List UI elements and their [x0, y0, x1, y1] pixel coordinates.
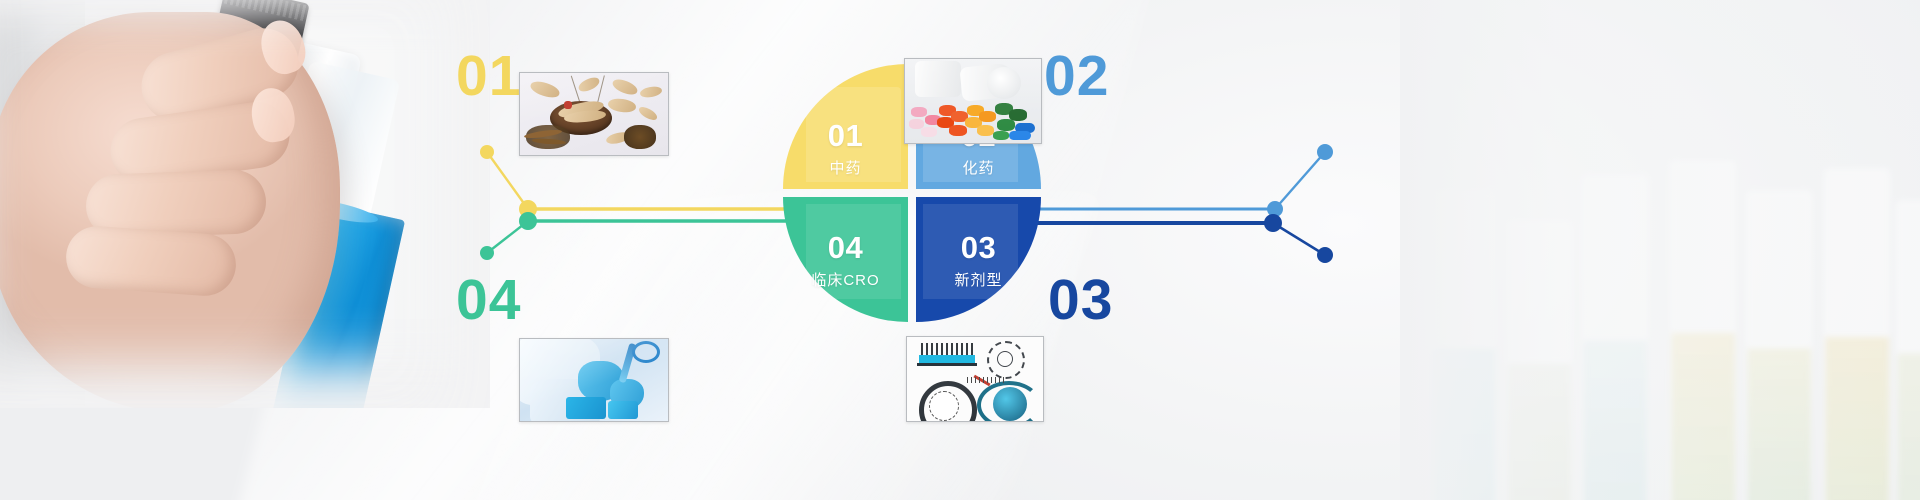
wheel-number-03: 03 — [916, 232, 1041, 263]
wheel-label-01: 01 中药 — [783, 120, 908, 178]
wheel-name-01: 中药 — [783, 157, 908, 178]
wheel-name-03: 新剂型 — [916, 269, 1041, 290]
wheel-label-03: 03 新剂型 — [916, 232, 1041, 290]
background-right-fade — [1400, 0, 1920, 500]
callout-image-01-herbs[interactable] — [519, 72, 669, 156]
wheel-number-01: 01 — [783, 120, 908, 151]
wheel-number-04: 04 — [783, 232, 908, 263]
hero-image-hand-test-tube — [0, 0, 490, 408]
wheel-name-02: 化药 — [916, 157, 1041, 178]
callout-image-04-laboratory[interactable] — [519, 338, 669, 422]
banner-stage: 01 中药 02 化药 03 新剂型 04 临床CRO 01 04 02 03 — [0, 0, 1920, 500]
callout-number-03: 03 — [1048, 272, 1113, 329]
callout-number-02: 02 — [1044, 48, 1109, 105]
callout-number-04: 04 — [456, 272, 521, 329]
callout-number-01: 01 — [456, 48, 521, 105]
callout-image-03-formulation-diagram[interactable] — [906, 336, 1044, 422]
wheel-name-04: 临床CRO — [783, 269, 908, 290]
wheel-label-04: 04 临床CRO — [783, 232, 908, 290]
callout-image-02-pills[interactable] — [904, 58, 1042, 144]
